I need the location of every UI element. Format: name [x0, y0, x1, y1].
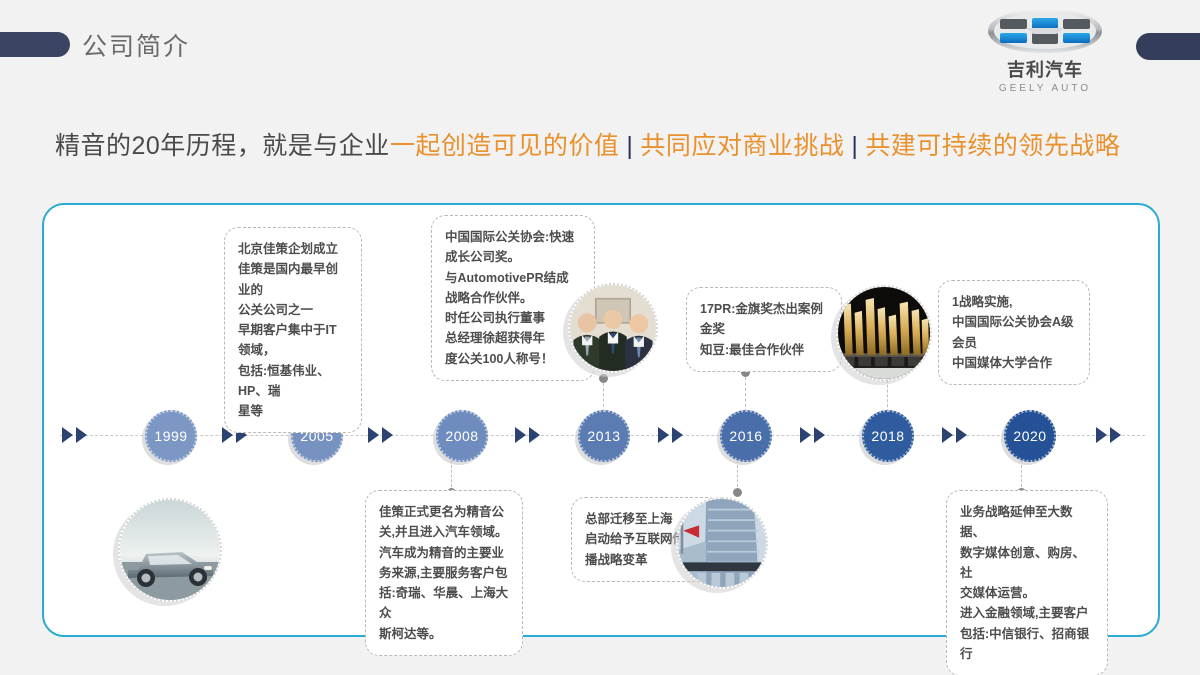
- callout-line: 包括:中信银行、招商银: [960, 624, 1094, 644]
- callout-2016: 17PR:金旗奖杰出案例 金奖 知豆:最佳合作伙伴: [686, 287, 842, 372]
- timeline-node-2018[interactable]: 2018: [862, 410, 914, 462]
- callout-line: 成长公司奖。: [445, 247, 581, 267]
- timeline-node-1999[interactable]: 1999: [145, 410, 197, 462]
- subtitle-highlight-3: 共建可持续的领先战略: [865, 132, 1120, 160]
- brand-logo: 吉利汽车 GEELY AUTO: [975, 8, 1115, 94]
- timeline-arrow-4: [658, 427, 683, 443]
- callout-line: 包括:恒基伟业、HP、瑞: [238, 361, 348, 402]
- geely-emblem-icon: [986, 8, 1104, 54]
- timeline-arrow-5: [800, 427, 825, 443]
- timeline-node-2020[interactable]: 2020: [1004, 410, 1056, 462]
- callout-line: 知豆:最佳合作伙伴: [700, 340, 828, 360]
- timeline-arrow-7: [1096, 427, 1121, 443]
- timeline-node-label: 2013: [587, 428, 620, 444]
- callout-line: 星等: [238, 401, 348, 421]
- photo-executives: [568, 283, 658, 373]
- callout-line: 早期客户集中于IT领域，: [238, 320, 348, 361]
- callout-2005: 佳策正式更名为精音公 关,并且进入汽车领域。 汽车成为精音的主要业 务来源,主要…: [365, 490, 523, 656]
- photo-trophies: [836, 285, 932, 381]
- callout-line: 总经理徐超获得年: [445, 328, 581, 348]
- callout-line: 数字媒体创意、购房、社: [960, 543, 1094, 584]
- callout-line: 战略合作伙伴。: [445, 288, 581, 308]
- timeline-node-label: 1999: [154, 428, 187, 444]
- logo-text-en: GEELY AUTO: [975, 83, 1115, 94]
- subtitle-highlight-2: 共同应对商业挑战: [640, 132, 844, 160]
- callout-line: 中国国际公关协会:快速: [445, 227, 581, 247]
- timeline-arrow-0: [62, 427, 87, 443]
- timeline-arrow-2: [368, 427, 393, 443]
- connector-2016: [745, 372, 746, 412]
- callout-line: 时任公司执行董事: [445, 308, 581, 328]
- page-title: 公司简介: [82, 27, 190, 63]
- subtitle-separator-2: |: [851, 132, 858, 160]
- callout-line: 中国国际公关协会A级: [952, 312, 1076, 332]
- callout-2018: 1战略实施, 中国国际公关协会A级 会员 中国媒体大学合作: [938, 280, 1090, 385]
- photo-building: [676, 497, 768, 589]
- connector-dot-2013: [733, 488, 742, 497]
- logo-text-cn: 吉利汽车: [975, 56, 1115, 82]
- callout-line: 佳策正式更名为精音公: [379, 502, 509, 522]
- timeline-node-label: 2020: [1013, 428, 1046, 444]
- timeline-node-2013[interactable]: 2013: [578, 410, 630, 462]
- connector-dot-2008: [599, 374, 608, 383]
- callout-line: 斯柯达等。: [379, 624, 509, 644]
- callout-1999: 北京佳策企划成立 佳策是国内最早创业的 公关公司之一 早期客户集中于IT领域， …: [224, 227, 362, 433]
- timeline-node-label: 2018: [871, 428, 904, 444]
- callout-line: 关,并且进入汽车领域。: [379, 522, 509, 542]
- shanghai-office-building-photo-icon: [678, 499, 766, 587]
- timeline-arrow-6: [942, 427, 967, 443]
- callout-line: 1战略实施,: [952, 292, 1076, 312]
- callout-line: 务来源,主要服务客户包: [379, 563, 509, 583]
- timeline-arrow-3: [515, 427, 540, 443]
- golden-award-trophies-photo-icon: [838, 287, 930, 379]
- callout-line: 进入金融领域,主要客户: [960, 603, 1094, 623]
- header-accent-bar-right: [1136, 33, 1200, 60]
- header-accent-bar-left: [0, 32, 70, 57]
- timeline-node-2016[interactable]: 2016: [720, 410, 772, 462]
- connector-2008: [603, 378, 604, 412]
- callout-line: 公关公司之一: [238, 300, 348, 320]
- subtitle-lead: 精音的20年历程，就是与企业: [55, 132, 390, 160]
- three-businessmen-photo-icon: [570, 285, 656, 371]
- callout-2020: 业务战略延伸至大数据、 数字媒体创意、购房、社 交媒体运营。 进入金融领域,主要…: [946, 490, 1108, 675]
- timeline-node-2008[interactable]: 2008: [436, 410, 488, 462]
- callout-line: 佳策是国内最早创业的: [238, 259, 348, 300]
- callout-line: 交媒体运营。: [960, 583, 1094, 603]
- callout-line: 中国媒体大学合作: [952, 353, 1076, 373]
- photo-car: [118, 498, 222, 602]
- callout-line: 括:奇瑞、华晨、上海大众: [379, 583, 509, 624]
- callout-2008: 中国国际公关协会:快速 成长公司奖。 与AutomotivePR结成 战略合作伙…: [431, 215, 595, 381]
- timeline-node-label: 2016: [729, 428, 762, 444]
- callout-line: 度公关100人称号！: [445, 349, 581, 369]
- callout-line: 行: [960, 644, 1094, 664]
- subtitle-highlight-1: 一起创造可见的价值: [390, 132, 620, 160]
- callout-line: 北京佳策企划成立: [238, 239, 348, 259]
- callout-line: 汽车成为精音的主要业: [379, 543, 509, 563]
- slide-root: 公司简介: [0, 0, 1200, 675]
- callout-line: 金奖: [700, 319, 828, 339]
- callout-line: 与AutomotivePR结成: [445, 268, 581, 288]
- callout-line: 业务战略延伸至大数据、: [960, 502, 1094, 543]
- callout-line: 会员: [952, 333, 1076, 353]
- callout-line: 17PR:金旗奖杰出案例: [700, 299, 828, 319]
- silver-sedan-car-photo-icon: [120, 500, 220, 600]
- subtitle-separator-1: |: [626, 132, 633, 160]
- timeline-node-label: 2008: [445, 428, 478, 444]
- slide-subtitle: 精音的20年历程，就是与企业一起创造可见的价值|共同应对商业挑战|共建可持续的领…: [55, 126, 1120, 162]
